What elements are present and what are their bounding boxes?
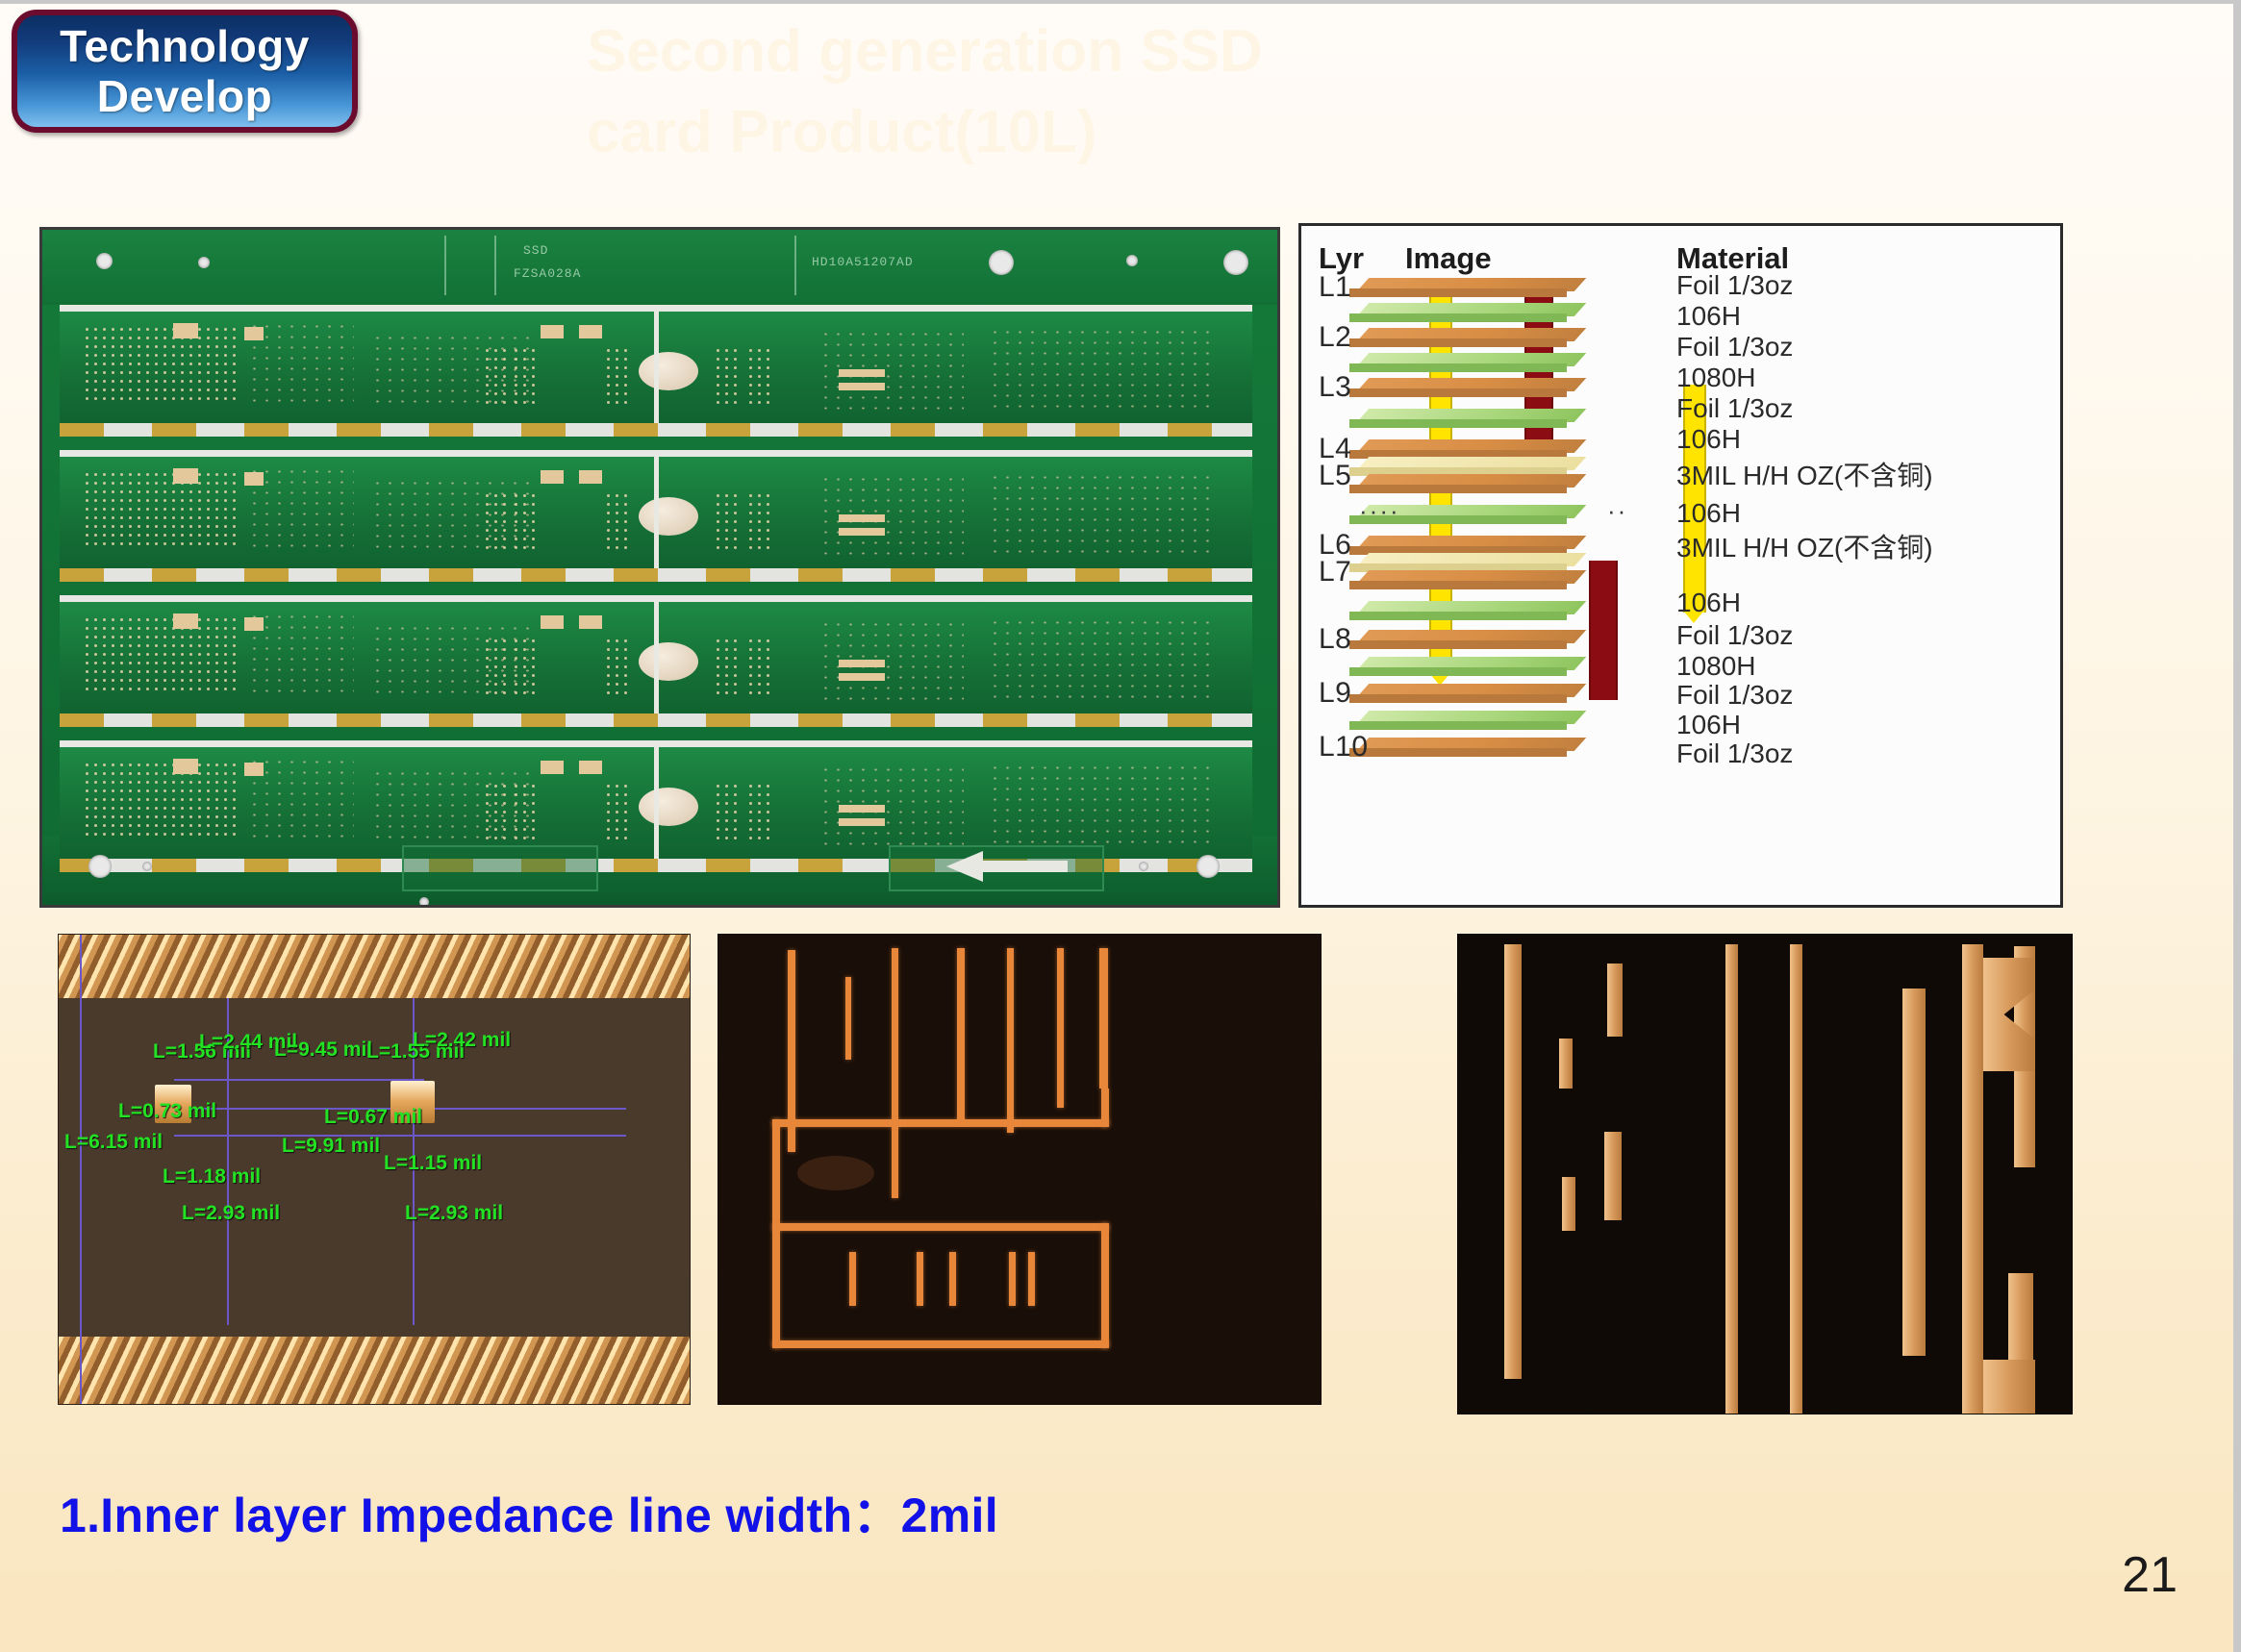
page-number: 21 <box>2122 1546 2178 1604</box>
stackup-leader-dots: ·· <box>1607 496 1627 526</box>
stackup-material-label: 3MIL H/H OZ(不含铜) <box>1676 527 1933 565</box>
measure-line <box>174 1135 626 1137</box>
stackup-lyr-label: L3 <box>1319 371 1351 404</box>
stackup-layer-slab <box>1349 439 1580 459</box>
stackup-lyr-label: L1 <box>1319 271 1351 304</box>
copper-trace <box>1790 944 1802 1414</box>
pcb-marking-box <box>402 845 598 891</box>
stackup-layer-slab <box>1349 353 1580 372</box>
stackup-layer-slab <box>1349 328 1580 347</box>
trace-segment <box>1099 948 1108 1089</box>
measure-label: L=2.42 mil <box>413 1029 511 1052</box>
stackup-layer-slab <box>1349 553 1580 572</box>
copper-trace <box>1604 1132 1622 1220</box>
stackup-material-label: 3MIL H/H OZ(不含铜) <box>1676 455 1933 493</box>
stackup-layer-slab <box>1349 536 1580 555</box>
trace-corner <box>772 1340 1109 1348</box>
stackup-layer-slab <box>1349 738 1580 757</box>
pcb-tooling-hole <box>1223 250 1248 275</box>
stackup-layer-slab <box>1349 601 1580 620</box>
stackup-header-image: Image <box>1405 241 1492 276</box>
copper-trace <box>1725 944 1738 1414</box>
impedance-coupon-photo <box>1457 934 2073 1414</box>
stackup-lyr-label: L7 <box>1319 556 1351 588</box>
trace-segment <box>949 1252 956 1306</box>
pcb-tooling-hole <box>96 253 113 269</box>
measure-label: L=2.93 mil <box>405 1202 503 1225</box>
stackup-lyr-label: L9 <box>1319 677 1351 710</box>
stackup-layer-slab <box>1349 278 1580 297</box>
measure-line <box>174 1079 424 1081</box>
stackup-material-label: 1080H <box>1676 363 1756 393</box>
trace-corner <box>1101 1223 1109 1348</box>
stackup-leader-dots: ···· <box>1359 496 1400 526</box>
trace-corner <box>1101 1089 1109 1127</box>
stackup-lyr-label: L2 <box>1319 321 1351 354</box>
pcb-tooling-hole <box>88 855 112 878</box>
stackup-layer-slab <box>1349 657 1580 676</box>
stackup-material-label: 106H <box>1676 424 1741 455</box>
copper-trace <box>1562 1177 1575 1231</box>
trace-void <box>797 1156 874 1190</box>
slide-canvas: Technology Develop Second generation SSD… <box>0 4 2233 1652</box>
pcb-tooling-hole <box>142 862 152 871</box>
pcb-tooling-hole <box>1126 255 1138 266</box>
measure-label: L=2.93 mil <box>182 1202 280 1225</box>
stackup-layer-slab <box>1349 474 1580 493</box>
pcb-sub-card <box>60 450 1252 582</box>
measure-line <box>80 935 82 1405</box>
pcb-top-rail <box>42 230 1277 305</box>
trace-segment <box>1007 948 1014 1133</box>
copper-trace <box>1902 989 1926 1356</box>
trace-segment <box>1028 1252 1035 1306</box>
stackup-material-label: 106H <box>1676 588 1741 618</box>
pcb-silk-text: FZSA028A <box>514 266 581 281</box>
copper-trace <box>1559 1039 1573 1089</box>
stackup-layer-slab <box>1349 303 1580 322</box>
trace-segment <box>845 977 851 1060</box>
pcb-tooling-hole <box>198 257 210 268</box>
pcb-panel-photo: SSD FZSA028A HD10A51207AD <box>39 227 1280 908</box>
trace-segment <box>892 948 898 1198</box>
measure-label: L=1.15 mil <box>384 1152 482 1175</box>
stackup-material-label: 106H <box>1676 301 1741 332</box>
trace-segment <box>957 948 965 1123</box>
stackup-layer-slab <box>1349 378 1580 397</box>
measure-label: L=1.18 mil <box>163 1165 261 1189</box>
stackup-material-label: Foil 1/3oz <box>1676 680 1793 711</box>
badge-line-2: Develop <box>97 71 272 121</box>
measure-label: L=9.45 mil <box>274 1039 372 1062</box>
stackup-layer-slab <box>1349 630 1580 649</box>
trace-corner <box>772 1223 780 1348</box>
trace-corner <box>772 1119 1109 1127</box>
pcb-direction-arrow-icon <box>944 851 1070 882</box>
pcb-silk-divider <box>494 236 496 295</box>
technology-develop-badge: Technology Develop <box>12 10 358 133</box>
pcb-silk-text: HD10A51207AD <box>812 255 914 269</box>
inner-layer-trace-photo <box>718 934 1322 1405</box>
pcb-silk-divider <box>444 236 446 295</box>
micro-section-photo: L=1.56 mil L=2.44 mil L=9.45 mil L=1.55 … <box>58 934 691 1405</box>
trace-corner <box>772 1119 780 1223</box>
stackup-material-label: 1080H <box>1676 651 1756 682</box>
trace-segment <box>917 1252 923 1306</box>
stackup-material-label: 106H <box>1676 710 1741 740</box>
stackup-material-label: 106H <box>1676 498 1741 529</box>
measure-label: L=9.91 mil <box>282 1135 380 1158</box>
copper-pad <box>1983 1360 2035 1414</box>
pcb-tooling-hole <box>1139 862 1148 871</box>
copper-trace <box>1607 964 1623 1037</box>
stackup-material-label: Foil 1/3oz <box>1676 332 1793 363</box>
measure-label: L=0.73 mil <box>118 1100 216 1123</box>
slide-caption: 1.Inner layer Impedance line width：2mil <box>60 1477 998 1546</box>
trace-segment <box>1009 1252 1016 1306</box>
copper-trace <box>1504 944 1522 1379</box>
stackup-lyr-label: L8 <box>1319 623 1351 656</box>
stackup-layer-slab <box>1349 457 1580 476</box>
measure-label: L=0.67 mil <box>324 1106 422 1129</box>
measure-label: L=6.15 mil <box>64 1131 163 1154</box>
trace-segment <box>1057 948 1064 1108</box>
stackup-layer-slab <box>1349 409 1580 428</box>
pcb-silk-divider <box>794 236 796 295</box>
layer-stackup-panel: Lyr Image Material L1 L2 <box>1298 223 2063 908</box>
stackup-lyr-label: L5 <box>1319 460 1351 492</box>
pcb-tooling-hole <box>989 250 1014 275</box>
buried-via-bottom <box>1589 561 1618 700</box>
pcb-tooling-hole <box>419 897 429 907</box>
stackup-material-label: Foil 1/3oz <box>1676 270 1793 301</box>
pcb-tooling-hole <box>1196 855 1220 878</box>
micro-copper-bottom <box>59 1337 691 1404</box>
page-title: Second generation SSD card Product(10L) <box>587 12 1837 173</box>
pcb-sub-card <box>60 305 1252 437</box>
copper-trace <box>1962 944 1983 1414</box>
stackup-material-label: Foil 1/3oz <box>1676 620 1793 651</box>
stackup-layer-slab <box>1349 684 1580 703</box>
stackup-lyr-label: L10 <box>1319 731 1369 763</box>
stackup-material-label: Foil 1/3oz <box>1676 393 1793 424</box>
pcb-silk-text: SSD <box>523 243 548 258</box>
stackup-layer-slab <box>1349 570 1580 589</box>
trace-segment <box>849 1252 856 1306</box>
trace-corner <box>772 1223 1109 1231</box>
stackup-layer-slab <box>1349 711 1580 730</box>
micro-copper-top <box>59 934 691 998</box>
stackup-material-label: Foil 1/3oz <box>1676 738 1793 769</box>
pcb-sub-card <box>60 595 1252 727</box>
badge-line-1: Technology <box>60 21 310 71</box>
